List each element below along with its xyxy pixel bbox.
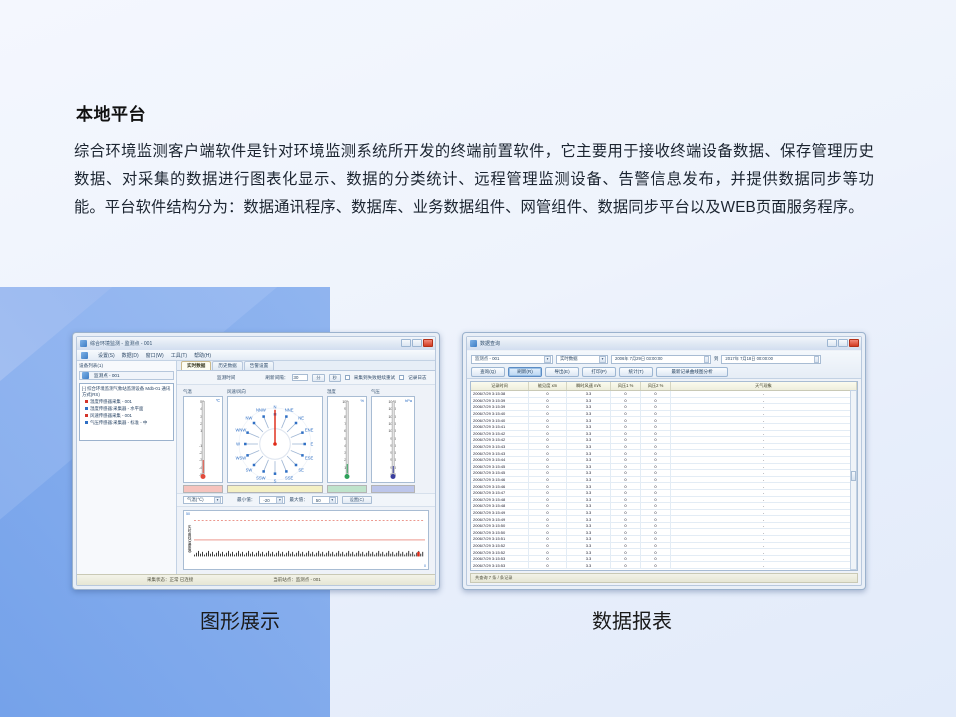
- start-date-value: 2006年 7月29日 03:00:00: [615, 356, 663, 362]
- table-cell: 3.3: [567, 444, 611, 450]
- monitor-time-label: 监测时间: [217, 375, 235, 381]
- table-cell: 0: [611, 497, 641, 503]
- gauge-wind: 风速/风向 NNNENEENEEESESESSESSSWSWWSWWWNWNWN…: [227, 389, 323, 493]
- chart-max-select[interactable]: 50 ▾: [312, 496, 338, 504]
- table-cell: 2006/7/29 3:15:50: [471, 523, 529, 529]
- table-cell: 0: [641, 562, 671, 568]
- thermometer-bulb: [201, 474, 206, 479]
- table-cell: 2006/7/29 3:15:53: [471, 556, 529, 562]
- svg-text:ENE: ENE: [305, 427, 314, 432]
- close-icon[interactable]: [423, 339, 433, 347]
- gauge-temperature: 气温 ℃ 50403020100-10-20-30-40-50: [183, 389, 223, 493]
- table-cell: 0: [611, 431, 641, 437]
- close-icon[interactable]: [849, 339, 859, 347]
- table-cell: 0: [529, 556, 567, 562]
- table-cell: 0: [611, 424, 641, 430]
- table-cell: 2006/7/29 3:15:43: [471, 450, 529, 456]
- app-icon: [80, 340, 87, 347]
- table-cell: 0: [641, 477, 671, 483]
- gauge-temperature-bar: [183, 485, 223, 493]
- chart-apply-button[interactable]: 设置(C): [342, 496, 372, 504]
- table-cell: 3.3: [567, 398, 611, 404]
- table-cell: 0: [529, 437, 567, 443]
- graphics-display-window[interactable]: 综合环境监测 - 监测点 - 001 设置(S) 数据(D) 窗口(W) 工具(…: [72, 332, 440, 590]
- table-cell: 0: [611, 391, 641, 397]
- table-row[interactable]: 2006/7/29 3:15:5303.300-: [471, 556, 857, 563]
- table-cell: 0: [529, 510, 567, 516]
- tab-history-data[interactable]: 历史数据: [212, 361, 242, 370]
- table-cell: 0: [641, 529, 671, 535]
- table-cell: 0: [611, 404, 641, 410]
- table-cell: 0: [529, 457, 567, 463]
- table-cell: 0: [611, 510, 641, 516]
- gauge-temperature-label: 气温: [183, 389, 223, 395]
- log-checkbox[interactable]: [399, 375, 404, 380]
- table-row[interactable]: 2006/7/29 3:15:4303.300-: [471, 444, 857, 451]
- gauge-pressure-unit: hPa: [405, 398, 412, 403]
- table-cell: 2006/7/29 3:15:51: [471, 536, 529, 542]
- maximize-icon[interactable]: [412, 339, 422, 347]
- table-cell: 3.3: [567, 503, 611, 509]
- chart-series-select[interactable]: 气温(℃) ▾: [183, 496, 223, 504]
- scrollbar-thumb[interactable]: [851, 471, 856, 481]
- svg-text:W: W: [236, 441, 240, 446]
- spinner-icon[interactable]: [814, 356, 819, 363]
- device-tree-selected-node[interactable]: 监测点 - 001: [79, 371, 174, 380]
- svg-text:SSE: SSE: [285, 476, 294, 481]
- app-icon: [470, 340, 477, 347]
- table-cell: 3.3: [567, 483, 611, 489]
- grid-header-row[interactable]: 记录时间能见度 xm瞬时风速 m/s风压1 %风压2 %天气现象: [471, 382, 857, 391]
- table-cell: -: [671, 549, 857, 555]
- table-cell: 0: [529, 490, 567, 496]
- table-cell: 2006/7/29 3:15:45: [471, 464, 529, 470]
- latest-curve-analysis-button[interactable]: 最新记录曲线图分析: [656, 367, 728, 377]
- tree-item-sensor-4[interactable]: 气压传感器:采集器 - 标准 - 中: [82, 419, 171, 426]
- table-cell: 0: [529, 516, 567, 522]
- table-cell: 2006/7/29 3:15:40: [471, 411, 529, 417]
- table-cell: 0: [641, 398, 671, 404]
- table-cell: 3.3: [567, 510, 611, 516]
- table-cell: 0: [641, 470, 671, 476]
- table-row[interactable]: 2006/7/29 3:15:4603.300-: [471, 477, 857, 484]
- retry-on-fail-checkbox[interactable]: [345, 375, 350, 380]
- graphics-status-collection: 采集状态：正常 已连接: [147, 577, 193, 583]
- grid-column-header[interactable]: 风压1 %: [611, 382, 641, 390]
- tree-item-sensor-1[interactable]: 温度传感器采集 - 001: [82, 398, 171, 405]
- table-cell: 0: [529, 543, 567, 549]
- svg-text:SSW: SSW: [256, 476, 266, 481]
- statistics-button[interactable]: 统计(T): [619, 367, 653, 377]
- table-cell: -: [671, 444, 857, 450]
- table-cell: -: [671, 450, 857, 456]
- table-cell: 0: [529, 562, 567, 568]
- table-row[interactable]: 2006/7/29 3:15:4403.300-: [471, 457, 857, 464]
- table-cell: -: [671, 457, 857, 463]
- table-cell: -: [671, 431, 857, 437]
- chart-plot: [194, 517, 425, 561]
- table-cell: 3.3: [567, 437, 611, 443]
- interval-unit-second[interactable]: 秒: [329, 374, 341, 382]
- table-row[interactable]: 2006/7/29 3:15:4203.300-: [471, 431, 857, 438]
- table-row[interactable]: 2006/7/29 3:15:4503.300-: [471, 470, 857, 477]
- table-cell: 0: [611, 556, 641, 562]
- chevron-down-icon[interactable]: ▾: [599, 356, 606, 363]
- sensor-status-icon: [85, 407, 88, 410]
- tab-alarm-settings[interactable]: 告警设置: [244, 361, 274, 370]
- table-cell: 2006/7/29 3:15:45: [471, 470, 529, 476]
- spinner-icon[interactable]: [704, 356, 709, 363]
- gauge-panel: 气温 ℃ 50403020100-10-20-30-40-50: [177, 385, 435, 493]
- table-cell: -: [671, 536, 857, 542]
- thermometer-tube: [202, 401, 205, 474]
- refresh-interval-label: 刷新间隔：: [265, 375, 288, 381]
- table-cell: 0: [641, 464, 671, 470]
- device-tree-selected-label: 监测点 - 001: [94, 373, 120, 379]
- gauge-temperature-body: ℃ 50403020100-10-20-30-40-50: [183, 396, 223, 483]
- table-cell: 3.3: [567, 391, 611, 397]
- table-cell: 2006/7/29 3:15:46: [471, 477, 529, 483]
- table-row[interactable]: 2006/7/29 3:15:4603.300-: [471, 483, 857, 490]
- table-cell: 0: [529, 497, 567, 503]
- table-cell: 0: [641, 510, 671, 516]
- menu-app-icon: [81, 352, 88, 359]
- table-row[interactable]: 2006/7/29 3:15:4703.300-: [471, 490, 857, 497]
- chart-control-row[interactable]: 气温(℃) ▾ 最小值： -20 ▾ 最大值： 50 ▾ 设置(C): [177, 493, 435, 507]
- table-row[interactable]: 2006/7/29 3:15:5203.300-: [471, 543, 857, 550]
- device-tree-panel[interactable]: 设备列表(1) 监测点 - 001 [-] 综合环境监测气象站监测设备 Mdb-…: [77, 361, 177, 574]
- gauge-pressure-label: 气压: [371, 389, 415, 395]
- table-cell: 3.3: [567, 529, 611, 535]
- table-row[interactable]: 2006/7/29 3:15:3803.300-: [471, 391, 857, 398]
- table-cell: 3.3: [567, 464, 611, 470]
- table-cell: 0: [529, 398, 567, 404]
- pressure-fill: [393, 466, 394, 473]
- humidity-bulb: [345, 474, 350, 479]
- svg-text:E: E: [311, 441, 314, 446]
- table-cell: 0: [611, 444, 641, 450]
- table-cell: 3.3: [567, 536, 611, 542]
- svg-text:SW: SW: [246, 468, 253, 473]
- graphics-window-buttons: [401, 339, 433, 347]
- table-cell: 0: [641, 411, 671, 417]
- table-cell: -: [671, 391, 857, 397]
- table-cell: 0: [529, 464, 567, 470]
- chevron-down-icon[interactable]: ▾: [214, 497, 221, 504]
- chart-min-label: 最小值：: [237, 497, 255, 503]
- device-tree-root-label: [-] 综合环境监测气象站监测设备 Mdb-01 通讯方式(RS): [82, 386, 171, 398]
- date-range-to-label: 到: [714, 356, 718, 362]
- report-data-grid[interactable]: 记录时间能见度 xm瞬时风速 m/s风压1 %风压2 %天气现象 2006/7/…: [470, 381, 858, 571]
- table-row[interactable]: 2006/7/29 3:15:4003.300-: [471, 411, 857, 418]
- gauge-humidity-label: 湿度: [327, 389, 367, 395]
- table-cell: -: [671, 497, 857, 503]
- table-cell: 0: [529, 503, 567, 509]
- svg-text:NNW: NNW: [256, 407, 266, 412]
- table-cell: 2006/7/29 3:15:47: [471, 490, 529, 496]
- table-row[interactable]: 2006/7/29 3:15:4303.300-: [471, 450, 857, 457]
- table-cell: 0: [611, 562, 641, 568]
- table-cell: 2006/7/29 3:15:43: [471, 444, 529, 450]
- graphics-menubar[interactable]: 设置(S) 数据(D) 窗口(W) 工具(T) 帮助(H): [77, 350, 435, 361]
- table-cell: 0: [529, 536, 567, 542]
- table-cell: 3.3: [567, 470, 611, 476]
- report-window-title: 数据查询: [480, 340, 500, 347]
- menu-item-tools[interactable]: 工具(T): [171, 352, 187, 359]
- table-cell: 0: [611, 398, 641, 404]
- report-filter-panel: 监测点 - 001 ▾ 实时数据 ▾ 2006年 7月29日 03:00:00 …: [467, 351, 861, 379]
- report-statusbar: 共查询 7 条 / 条记录: [470, 573, 858, 583]
- minimize-icon[interactable]: [401, 339, 411, 347]
- table-cell: 0: [641, 424, 671, 430]
- table-row[interactable]: 2006/7/29 3:15:5103.300-: [471, 536, 857, 543]
- gauge-humidity-bar: [327, 485, 367, 493]
- table-row[interactable]: 2006/7/29 3:15:4803.300-: [471, 503, 857, 510]
- grid-body[interactable]: 2006/7/29 3:15:3803.300-2006/7/29 3:15:3…: [471, 391, 857, 570]
- table-cell: 0: [611, 503, 641, 509]
- report-window-inner: 数据查询 监测点 - 001 ▾ 实时数据 ▾ 2006年 7月29日 03:0…: [466, 336, 862, 586]
- table-cell: -: [671, 464, 857, 470]
- report-record-count: 共查询 7 条 / 条记录: [475, 575, 512, 581]
- table-cell: -: [671, 516, 857, 522]
- station-value: 监测点 - 001: [475, 356, 499, 362]
- tree-item-label: 温度传感器采集 - 001: [90, 398, 132, 405]
- table-row[interactable]: 2006/7/29 3:15:4003.300-: [471, 417, 857, 424]
- caption-graphics: 图形展示: [200, 605, 280, 634]
- chart-y-axis-title: 实时曲线(温度值): [186, 518, 193, 559]
- svg-text:N: N: [274, 405, 277, 410]
- table-cell: -: [671, 437, 857, 443]
- table-cell: 0: [641, 523, 671, 529]
- table-cell: -: [671, 543, 857, 549]
- table-cell: 2006/7/29 3:15:40: [471, 417, 529, 423]
- refresh-interval-input[interactable]: 30: [292, 374, 308, 381]
- table-cell: -: [671, 523, 857, 529]
- chart-max-label: 最大值：: [289, 497, 307, 503]
- table-row[interactable]: 2006/7/29 3:15:5003.300-: [471, 529, 857, 536]
- table-cell: 0: [611, 470, 641, 476]
- table-cell: 2006/7/29 3:15:49: [471, 510, 529, 516]
- graphics-statusbar: 采集状态：正常 已连接 当前站点：监测点 - 001: [77, 574, 435, 585]
- table-cell: 2006/7/29 3:15:41: [471, 424, 529, 430]
- table-cell: 0: [529, 417, 567, 423]
- tree-item-label: 湿度传感器:采集器 - 水平面: [90, 405, 143, 412]
- report-titlebar: 数据查询: [467, 337, 861, 350]
- table-cell: 0: [529, 424, 567, 430]
- graphics-window-inner: 综合环境监测 - 监测点 - 001 设置(S) 数据(D) 窗口(W) 工具(…: [76, 336, 436, 586]
- export-button[interactable]: 导出(E): [545, 367, 579, 377]
- table-cell: 0: [641, 536, 671, 542]
- menu-item-settings[interactable]: 设置(S): [98, 352, 115, 359]
- table-cell: 2006/7/29 3:15:48: [471, 503, 529, 509]
- table-row[interactable]: 2006/7/29 3:15:5303.300-: [471, 562, 857, 569]
- table-row[interactable]: 2006/7/29 3:15:3903.300-: [471, 398, 857, 405]
- gauge-humidity-unit: %: [360, 398, 364, 403]
- tab-realtime-data[interactable]: 实时数据: [181, 361, 211, 370]
- table-cell: 3.3: [567, 543, 611, 549]
- grid-column-header[interactable]: 瞬时风速 m/s: [567, 382, 611, 390]
- table-cell: 3.3: [567, 516, 611, 522]
- grid-vertical-scrollbar[interactable]: [850, 390, 857, 570]
- tree-item-sensor-2[interactable]: 湿度传感器:采集器 - 水平面: [82, 405, 171, 412]
- table-cell: 0: [641, 503, 671, 509]
- table-cell: 3.3: [567, 556, 611, 562]
- chevron-down-icon[interactable]: ▾: [329, 497, 336, 504]
- table-cell: 3.3: [567, 457, 611, 463]
- table-cell: 2006/7/29 3:15:38: [471, 391, 529, 397]
- gauge-humidity-body: % 1009080706050403020100: [327, 396, 367, 483]
- chevron-down-icon[interactable]: ▾: [544, 356, 551, 363]
- table-cell: 3.3: [567, 411, 611, 417]
- table-cell: 0: [641, 516, 671, 522]
- start-date-picker[interactable]: 2006年 7月29日 03:00:00: [611, 355, 711, 364]
- table-cell: 3.3: [567, 549, 611, 555]
- table-cell: -: [671, 477, 857, 483]
- table-cell: 0: [611, 477, 641, 483]
- grid-column-header[interactable]: 记录时间: [471, 382, 529, 390]
- table-cell: -: [671, 417, 857, 423]
- page-title: 本地平台: [76, 100, 146, 125]
- menu-item-window[interactable]: 窗口(W): [146, 352, 164, 359]
- table-cell: 0: [611, 523, 641, 529]
- query-button[interactable]: 查询(Q): [471, 367, 505, 377]
- table-cell: 2006/7/29 3:15:39: [471, 398, 529, 404]
- table-cell: 0: [611, 411, 641, 417]
- grid-column-header[interactable]: 能见度 xm: [529, 382, 567, 390]
- gauge-temperature-unit: ℃: [216, 398, 221, 403]
- table-cell: -: [671, 424, 857, 430]
- menu-item-data[interactable]: 数据(D): [122, 352, 139, 359]
- table-cell: 3.3: [567, 450, 611, 456]
- station-select[interactable]: 监测点 - 001 ▾: [471, 355, 553, 364]
- table-cell: 0: [641, 391, 671, 397]
- graphics-window-title: 综合环境监测 - 监测点 - 001: [90, 340, 152, 347]
- graphics-body: 设备列表(1) 监测点 - 001 [-] 综合环境监测气象站监测设备 Mdb-…: [77, 361, 435, 574]
- table-cell: -: [671, 483, 857, 489]
- table-cell: 0: [529, 431, 567, 437]
- chart-min-value: -20: [263, 498, 269, 503]
- print-button[interactable]: 打印(P): [582, 367, 616, 377]
- interval-unit-minute[interactable]: 分: [312, 374, 324, 382]
- table-cell: 3.3: [567, 497, 611, 503]
- data-report-window[interactable]: 数据查询 监测点 - 001 ▾ 实时数据 ▾ 2006年 7月29日 03:0…: [462, 332, 866, 590]
- table-cell: 0: [529, 529, 567, 535]
- table-cell: 0: [641, 497, 671, 503]
- table-cell: 2006/7/29 3:15:44: [471, 457, 529, 463]
- svg-text:SE: SE: [298, 468, 304, 473]
- data-type-value: 实时数据: [560, 356, 578, 362]
- grid-column-header[interactable]: 天气现象: [671, 382, 857, 390]
- table-cell: -: [671, 404, 857, 410]
- svg-text:NW: NW: [245, 415, 252, 420]
- svg-text:NNE: NNE: [285, 407, 294, 412]
- table-cell: -: [671, 562, 857, 568]
- tree-item-sensor-3[interactable]: 风速传感器采集 - 001: [82, 412, 171, 419]
- table-cell: 0: [641, 431, 671, 437]
- table-cell: 2006/7/29 3:15:46: [471, 483, 529, 489]
- table-cell: 0: [611, 516, 641, 522]
- sensor-status-icon: [85, 421, 88, 424]
- table-cell: 0: [641, 483, 671, 489]
- table-cell: 0: [529, 483, 567, 489]
- table-row[interactable]: 2006/7/29 3:15:4503.300-: [471, 464, 857, 471]
- table-row[interactable]: 2006/7/29 3:15:3903.300-: [471, 404, 857, 411]
- chevron-down-icon[interactable]: ▾: [276, 497, 283, 504]
- gauge-pressure-body: hPa 104010301020101010009909809709609509…: [371, 396, 415, 483]
- maximize-icon[interactable]: [838, 339, 848, 347]
- graphics-tabstrip[interactable]: 实时数据 历史数据 告警设置: [177, 361, 435, 371]
- device-tree-list[interactable]: [-] 综合环境监测气象站监测设备 Mdb-01 通讯方式(RS) 温度传感器采…: [79, 383, 174, 441]
- table-cell: -: [671, 503, 857, 509]
- humidity-fill: [347, 464, 348, 473]
- table-row[interactable]: 2006/7/29 3:15:5003.300-: [471, 523, 857, 530]
- table-cell: 2006/7/29 3:15:42: [471, 431, 529, 437]
- table-cell: 0: [641, 437, 671, 443]
- table-cell: 0: [641, 549, 671, 555]
- report-filter-row: 监测点 - 001 ▾ 实时数据 ▾ 2006年 7月29日 03:00:00 …: [471, 354, 857, 364]
- table-cell: 2006/7/29 3:15:52: [471, 543, 529, 549]
- thermometer-fill: [203, 460, 204, 473]
- table-cell: 3.3: [567, 417, 611, 423]
- graphics-control-row[interactable]: 监测时间 刷新间隔： 30 分 秒 采集到失败继续重试 记录日志: [177, 371, 435, 385]
- table-cell: 2006/7/29 3:15:39: [471, 404, 529, 410]
- table-cell: 0: [641, 444, 671, 450]
- menu-item-help[interactable]: 帮助(H): [194, 352, 211, 359]
- table-row[interactable]: 2006/7/29 3:15:4203.300-: [471, 437, 857, 444]
- grid-column-header[interactable]: 风压2 %: [641, 382, 671, 390]
- table-cell: 0: [529, 450, 567, 456]
- body-paragraph: 综合环境监测客户端软件是针对环境监测系统所开发的终端前置软件，它主要用于接收终端…: [74, 138, 874, 222]
- graphics-content-panel: 实时数据 历史数据 告警设置 监测时间 刷新间隔： 30 分 秒 采集到失败继续…: [177, 361, 435, 574]
- table-cell: -: [671, 411, 857, 417]
- table-row[interactable]: 2006/7/29 3:15:4903.300-: [471, 510, 857, 517]
- sensor-status-icon: [85, 400, 88, 403]
- chart-min-select[interactable]: -20 ▾: [259, 496, 285, 504]
- sensor-status-icon: [85, 414, 88, 417]
- table-cell: -: [671, 529, 857, 535]
- table-cell: -: [671, 510, 857, 516]
- table-cell: -: [671, 470, 857, 476]
- table-cell: 0: [611, 417, 641, 423]
- table-cell: 0: [529, 444, 567, 450]
- chart-bottom-value: 0: [424, 564, 426, 568]
- table-cell: 3.3: [567, 562, 611, 568]
- end-date-picker[interactable]: 2017年 7月18日 00:00:00: [721, 355, 821, 364]
- gauge-pressure: 气压 hPa 104010301020101010009909809709609…: [371, 389, 415, 493]
- table-row[interactable]: 2006/7/29 3:15:5203.300-: [471, 549, 857, 556]
- table-row[interactable]: 2006/7/29 3:15:4903.300-: [471, 516, 857, 523]
- svg-text:S: S: [274, 478, 277, 483]
- table-cell: 0: [641, 450, 671, 456]
- table-cell: 3.3: [567, 431, 611, 437]
- minimize-icon[interactable]: [827, 339, 837, 347]
- table-cell: 2006/7/29 3:15:52: [471, 549, 529, 555]
- gauge-wind-body: NNNENEENEEESESESSESSSWSWWSWWWNWNWNNW: [227, 396, 323, 483]
- device-tree-header: 设备列表(1): [79, 363, 174, 369]
- realtime-chart[interactable]: 50 实时曲线(温度值) 0: [183, 510, 429, 570]
- table-row[interactable]: 2006/7/29 3:15:4803.300-: [471, 497, 857, 504]
- pressure-tube: [392, 401, 395, 474]
- table-row[interactable]: 2006/7/29 3:15:4103.300-: [471, 424, 857, 431]
- data-type-select[interactable]: 实时数据 ▾: [556, 355, 608, 364]
- table-cell: 0: [641, 490, 671, 496]
- table-cell: 0: [641, 404, 671, 410]
- table-cell: -: [671, 556, 857, 562]
- table-cell: -: [671, 398, 857, 404]
- gauge-pressure-bar: [371, 485, 415, 493]
- table-cell: 0: [611, 483, 641, 489]
- refresh-button[interactable]: 刷新(R): [508, 367, 542, 377]
